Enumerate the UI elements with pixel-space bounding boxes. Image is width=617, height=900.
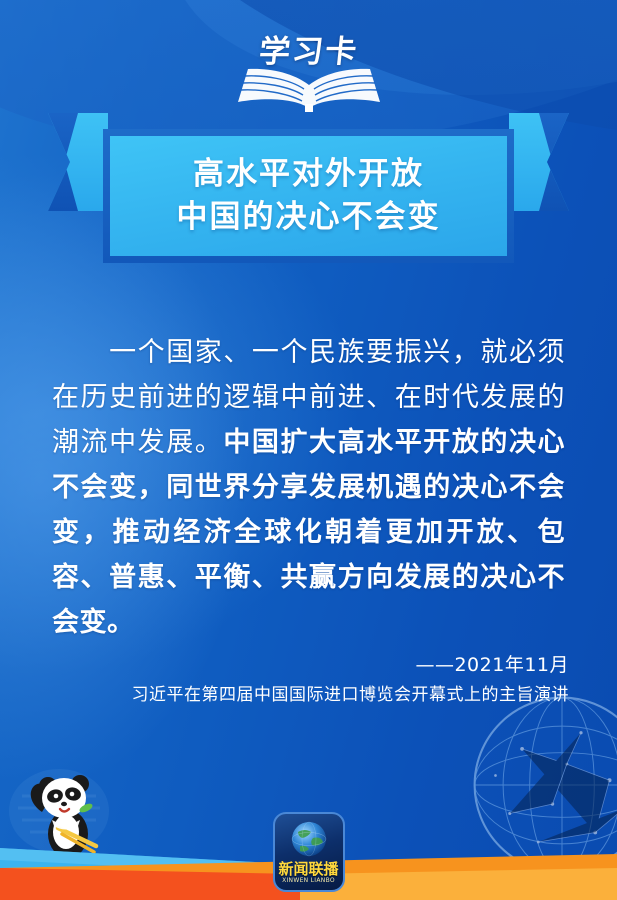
- banner-notch-right: [539, 113, 569, 211]
- brand-logo-label: 学习卡: [221, 26, 396, 71]
- news-program-badge[interactable]: 新闻联播 XINWEN LIANBO: [273, 812, 345, 892]
- banner-title-line-2: 中国的决心不会变: [177, 197, 441, 238]
- banner-frame: 高水平对外开放 中国的决心不会变: [103, 129, 514, 263]
- badge-name-cn: 新闻联播: [278, 861, 338, 877]
- open-book-icon: [232, 66, 386, 112]
- quote-body: 一个国家、一个民族要振兴，就必须在历史前进的逻辑中前进、在时代发展的潮流中发展。…: [52, 330, 565, 645]
- attribution-date: ——2021年11月: [52, 650, 569, 680]
- banner-notch-left: [48, 113, 78, 211]
- title-banner: 高水平对外开放 中国的决心不会变: [48, 113, 569, 263]
- banner-inner: 高水平对外开放 中国的决心不会变: [110, 136, 507, 256]
- earth-globe-icon: [287, 820, 331, 860]
- poster-root: 学习卡: [0, 0, 617, 900]
- banner-tab-right: [509, 113, 569, 211]
- banner-title-line-1: 高水平对外开放: [193, 154, 424, 195]
- attribution-source: 习近平在第四届中国国际进口博览会开幕式上的主旨演讲: [52, 680, 569, 710]
- quote-emphasis-text: 中国扩大高水平开放的决心不会变，同世界分享发展机遇的决心不会变，推动经济全球化朝…: [52, 427, 565, 638]
- banner-tab-left: [48, 113, 108, 211]
- badge-name-pinyin: XINWEN LIANBO: [282, 877, 335, 885]
- footer-band: 新闻联播 XINWEN LIANBO: [0, 740, 617, 900]
- attribution: ——2021年11月 习近平在第四届中国国际进口博览会开幕式上的主旨演讲: [52, 650, 569, 710]
- brand-logo: 学习卡: [0, 22, 617, 112]
